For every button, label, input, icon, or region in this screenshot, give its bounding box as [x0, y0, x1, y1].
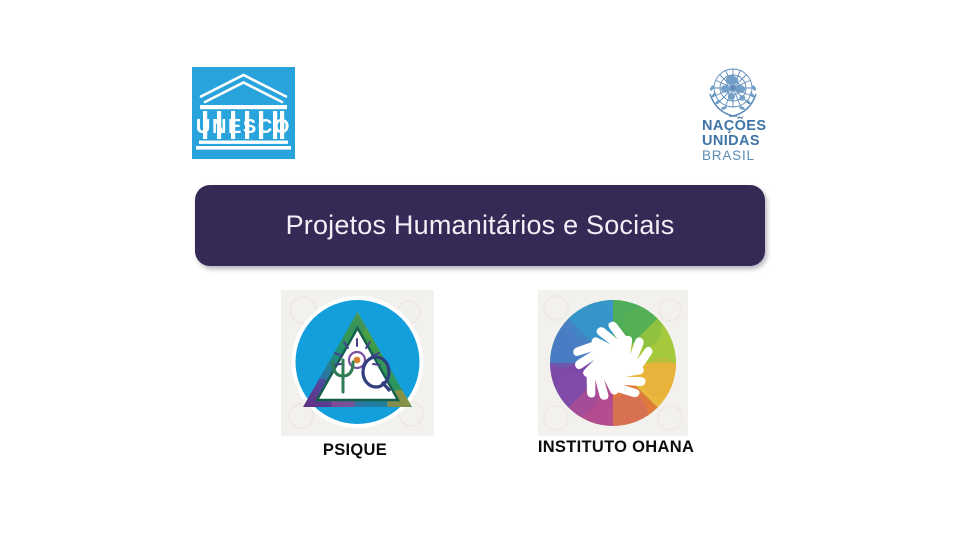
un-wordmark-line-3: BRASIL	[702, 149, 766, 163]
svg-text:UNESCO: UNESCO	[196, 116, 291, 138]
un-wordmark: NAÇÕES UNIDAS BRASIL	[702, 119, 766, 162]
un-wordmark-line-1: NAÇÕES	[702, 119, 766, 134]
instituto-ohana-label: INSTITUTO OHANA	[516, 438, 716, 457]
un-wordmark-line-2: UNIDAS	[702, 134, 766, 149]
unesco-logo: UNESCO	[192, 67, 295, 159]
psique-label: PSIQUE	[255, 441, 455, 460]
psique-logo	[281, 290, 434, 436]
title-banner: Projetos Humanitários e Sociais	[195, 185, 765, 266]
slide-canvas: UNESCO	[0, 0, 960, 540]
page-title: Projetos Humanitários e Sociais	[286, 210, 675, 241]
instituto-ohana-logo	[538, 290, 688, 436]
un-emblem-icon	[700, 62, 766, 122]
united-nations-logo: NAÇÕES UNIDAS BRASIL	[688, 62, 798, 162]
